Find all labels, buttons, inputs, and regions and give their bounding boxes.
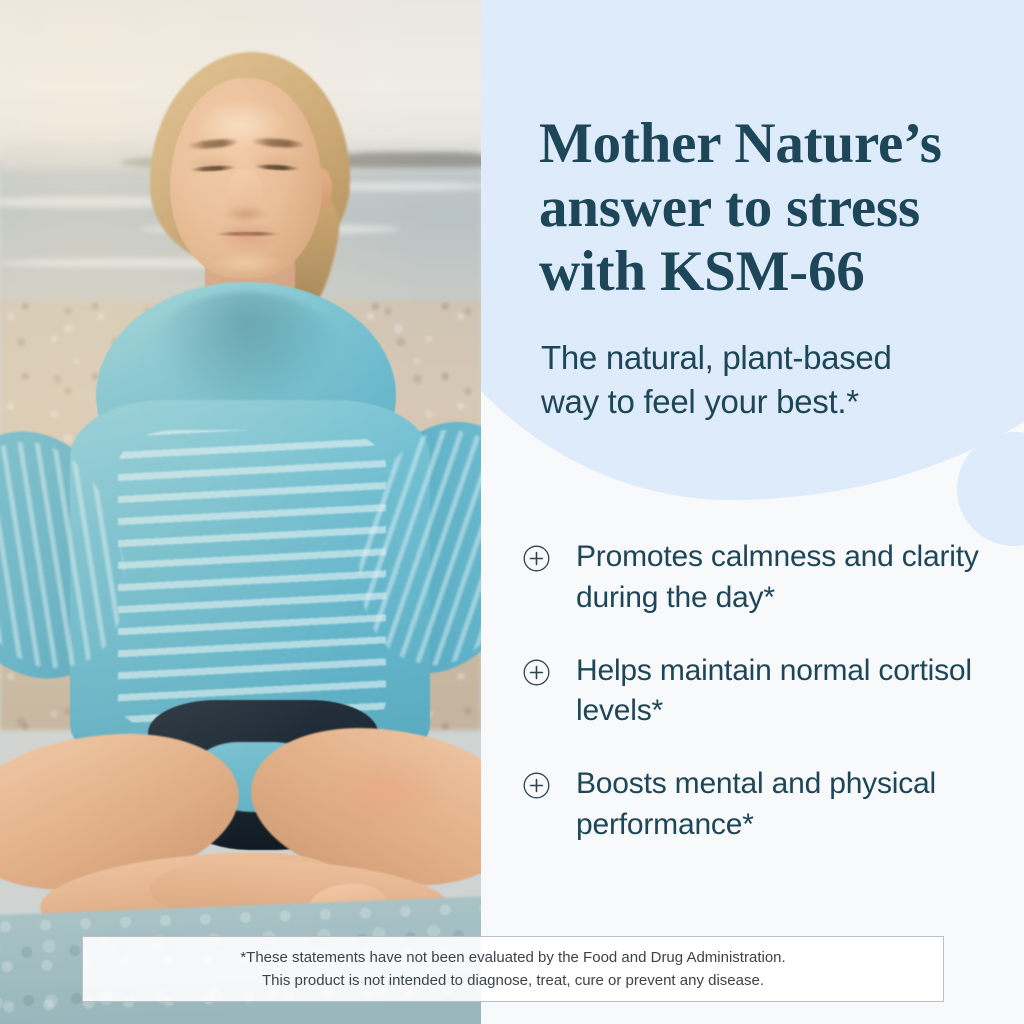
photo-hood-shadow	[150, 292, 340, 412]
subheadline-line-1: The natural, plant-based	[541, 339, 892, 376]
photo-chin	[210, 252, 284, 274]
lifestyle-photo	[0, 0, 481, 1024]
plus-circle-icon	[523, 772, 550, 799]
benefit-label: Boosts mental and physical performance*	[576, 764, 993, 846]
photo-knee-highlight	[330, 756, 440, 828]
content-panel: Mother Nature’sanswer to stresswith KSM-…	[481, 0, 1024, 1024]
subheadline-line-2: way to feel your best.*	[541, 383, 859, 420]
benefits-list: Promotes calmness and clarity during the…	[523, 537, 993, 878]
brand-name-ksm66: KSM-66	[660, 240, 865, 303]
product-marketing-image: Mother Nature’sanswer to stresswith KSM-…	[0, 0, 1024, 1024]
headline-line-2: answer to stress	[539, 176, 920, 239]
page-title: Mother Nature’sanswer to stresswith KSM-…	[539, 112, 1009, 303]
list-item: Helps maintain normal cortisol levels*	[523, 651, 993, 733]
plus-circle-icon	[523, 659, 550, 686]
photo-nose-shadow	[222, 206, 270, 222]
disclaimer-line-1: *These statements have not been evaluate…	[240, 946, 785, 969]
benefit-label: Promotes calmness and clarity during the…	[576, 537, 993, 619]
headline-line-1: Mother Nature’s	[539, 112, 942, 175]
list-item: Promotes calmness and clarity during the…	[523, 537, 993, 619]
subheadline: The natural, plant-basedway to feel your…	[541, 336, 971, 424]
list-item: Boosts mental and physical performance*	[523, 764, 993, 846]
plus-circle-icon	[523, 545, 550, 572]
photo-rock-right	[330, 152, 481, 168]
disclaimer-line-2: This product is not intended to diagnose…	[262, 969, 764, 992]
photo-shirt-stripes	[118, 430, 386, 730]
headline-line-3-prefix: with	[539, 240, 660, 303]
benefit-label: Helps maintain normal cortisol levels*	[576, 651, 993, 733]
fda-disclaimer: *These statements have not been evaluate…	[82, 936, 944, 1002]
photo-lower-lip	[218, 234, 276, 250]
